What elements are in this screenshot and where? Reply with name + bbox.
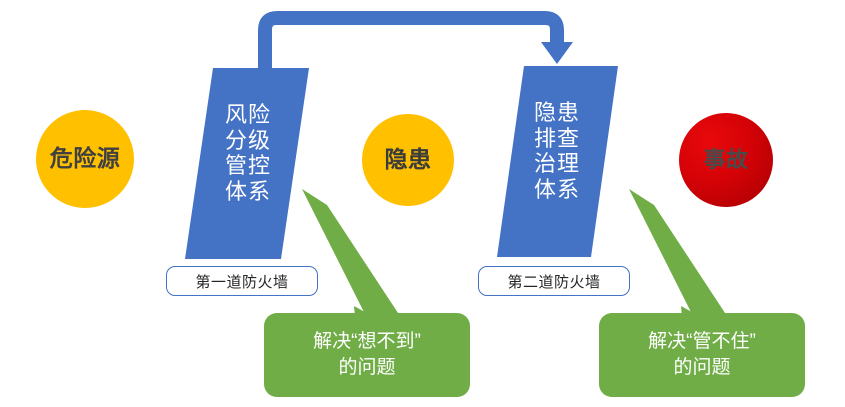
node-accident[interactable]: 事故	[679, 113, 773, 207]
firewall-chip-first[interactable]: 第一道防火墙	[166, 266, 318, 296]
node-hazard-source-label: 危险源	[50, 146, 121, 171]
node-hidden-danger[interactable]: 隐患	[362, 114, 454, 206]
outcome-box-solve-unthinkable[interactable]: 解决“想不到” 的问题	[264, 313, 470, 397]
outcome-box-solve-uncontrollable-label: 解决“管不住” 的问题	[648, 329, 756, 380]
firewall-chip-second-label: 第二道防火墙	[507, 271, 600, 292]
outcome-box-solve-uncontrollable[interactable]: 解决“管不住” 的问题	[599, 313, 805, 397]
firewall-chip-first-label: 第一道防火墙	[195, 271, 288, 292]
pillar-label-risk-grading-control-system: 风险 分级 管控 体系	[213, 102, 283, 204]
diagram-canvas: 危险源 隐患 事故 风险 分级 管控 体系 隐患 排查 治理 体系 第一道防火墙…	[0, 0, 845, 407]
node-accident-label: 事故	[703, 148, 748, 172]
feedback-loop-arrow	[265, 18, 573, 70]
outcome-box-solve-unthinkable-label: 解决“想不到” 的问题	[313, 329, 421, 380]
firewall-chip-second[interactable]: 第二道防火墙	[478, 266, 630, 296]
node-hidden-danger-label: 隐患	[385, 147, 432, 172]
node-hazard-source[interactable]: 危险源	[36, 110, 134, 208]
pillar-label-hazard-investigation-governance-system: 隐患 排查 治理 体系	[522, 100, 592, 202]
